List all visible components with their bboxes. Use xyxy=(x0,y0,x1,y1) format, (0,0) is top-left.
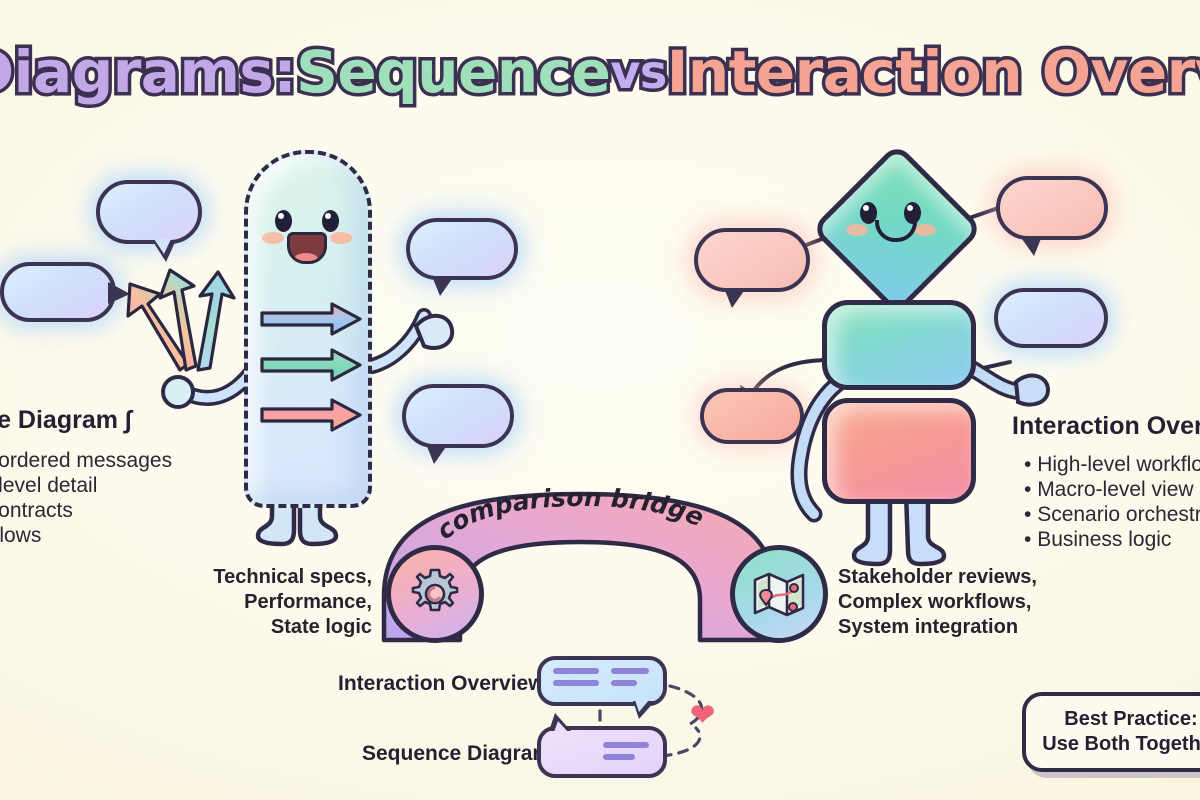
right-bullet-1: • Macro-level view xyxy=(1024,477,1200,502)
overview-speech-bubble-left xyxy=(694,228,810,292)
overview-speech-bubble-top-right xyxy=(996,176,1108,240)
mascot-blush-right xyxy=(330,232,352,244)
title-part-sequence: Sequence xyxy=(296,38,610,106)
bridge-left-line-2: State logic xyxy=(200,615,372,640)
bridge-left-line-0: Technical specs, xyxy=(200,565,372,590)
left-panel-bullets: me-ordered messages cro-level detail PI … xyxy=(0,448,172,548)
bridge-left-text: Technical specs, Performance, State logi… xyxy=(200,565,372,640)
legend-label-sequence-diagram: Sequence Diagram xyxy=(362,742,551,766)
gear-icon xyxy=(386,545,484,643)
bridge-right-line-2: System integration xyxy=(838,615,1058,640)
speech-bubble-left-mid xyxy=(0,262,116,322)
left-bullet-3: ror flows xyxy=(0,523,172,548)
legend-bubble-blue xyxy=(537,656,667,706)
message-arrow-2 xyxy=(258,348,364,382)
overview-smile xyxy=(875,220,917,242)
overview-blush-right xyxy=(914,224,936,236)
page-title: UML Diagrams: Sequence vs Interaction Ov… xyxy=(0,38,1200,106)
title-part-vs: vs xyxy=(610,45,666,99)
bridge-right-text: Stakeholder reviews, Complex workflows, … xyxy=(838,565,1058,640)
overview-face xyxy=(836,186,948,256)
speech-bubble-left-top xyxy=(96,180,202,244)
mascot-eye-right xyxy=(322,210,339,232)
overview-activity-node-teal xyxy=(822,300,976,390)
left-bullet-1: cro-level detail xyxy=(0,473,172,498)
overview-blush-left xyxy=(846,224,868,236)
best-practice-badge: Best Practice:Use Both Together xyxy=(1022,692,1200,772)
mascot-eye-left xyxy=(275,210,292,232)
message-arrow-3 xyxy=(258,398,364,432)
title-part-uml-diagrams: UML Diagrams: xyxy=(0,38,296,106)
right-bullet-0: • High-level workflows xyxy=(1024,452,1200,477)
bridge-right-line-1: Complex workflows, xyxy=(838,590,1058,615)
left-bullet-2: PI contracts xyxy=(0,498,172,523)
overview-activity-node-coral xyxy=(822,398,976,504)
title-part-interaction-overview: Interaction Overview xyxy=(667,38,1200,106)
heart-icon: ❤ xyxy=(690,698,715,733)
mascot-mouth xyxy=(287,232,327,264)
mascot-blush-left xyxy=(262,232,284,244)
overview-speech-bubble-right xyxy=(994,288,1108,348)
legend-bubble-lilac xyxy=(537,726,667,778)
badge-text: Best Practice:Use Both Together xyxy=(1042,707,1200,757)
map-icon xyxy=(730,545,828,643)
message-arrow-1 xyxy=(258,302,364,336)
right-panel-heading: Interaction Overview xyxy=(1012,412,1200,441)
left-panel-heading: ence Diagram ∫ xyxy=(0,406,132,435)
bridge-right-line-0: Stakeholder reviews, xyxy=(838,565,1058,590)
speech-bubble-right-upper xyxy=(406,218,518,280)
poster-canvas: UML Diagrams: Sequence vs Interaction Ov… xyxy=(0,0,1200,800)
right-panel-bullets: • High-level workflows • Macro-level vie… xyxy=(1024,452,1200,552)
right-bullet-3: • Business logic xyxy=(1024,527,1200,552)
legend-label-interaction-overview: Interaction Overview xyxy=(338,672,545,696)
right-bullet-2: • Scenario orchestration xyxy=(1024,502,1200,527)
left-bullet-0: me-ordered messages xyxy=(0,448,172,473)
bridge-left-line-1: Performance, xyxy=(200,590,372,615)
